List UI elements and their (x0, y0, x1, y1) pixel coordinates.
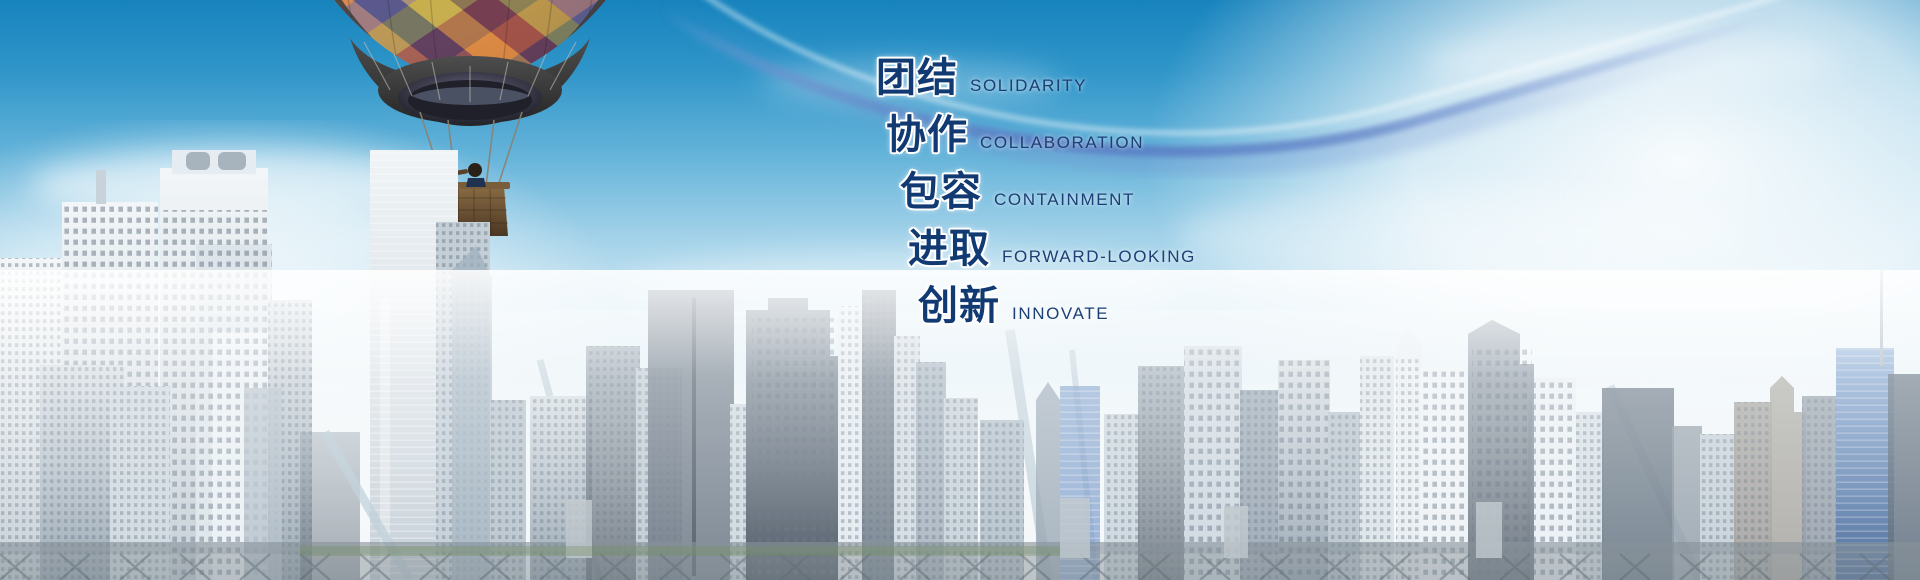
slogan-row: 协作 COLLABORATION (886, 115, 1500, 172)
slogan-chinese: 创新 (918, 286, 1000, 326)
slogan-row: 包容 CONTAINMENT (900, 172, 1500, 229)
slogan-chinese: 包容 (900, 172, 982, 212)
slogan-chinese: 协作 (886, 115, 968, 155)
slogan-english: INNOVATE (1012, 304, 1109, 324)
slogan-row: 进取 FORWARD-LOOKING (908, 229, 1500, 286)
corporate-culture-banner: 团结 SOLIDARITY 协作 COLLABORATION 包容 CONTAI… (0, 0, 1920, 580)
slogan-chinese: 团结 (876, 58, 958, 98)
slogan-english: SOLIDARITY (970, 76, 1087, 96)
slogan-english: FORWARD-LOOKING (1002, 247, 1196, 267)
slogan-block: 团结 SOLIDARITY 协作 COLLABORATION 包容 CONTAI… (860, 58, 1500, 343)
slogan-english: CONTAINMENT (994, 190, 1135, 210)
slogan-row: 创新 INNOVATE (918, 286, 1500, 343)
slogan-row: 团结 SOLIDARITY (876, 58, 1500, 115)
slogan-chinese: 进取 (908, 229, 990, 269)
slogan-english: COLLABORATION (980, 133, 1144, 153)
